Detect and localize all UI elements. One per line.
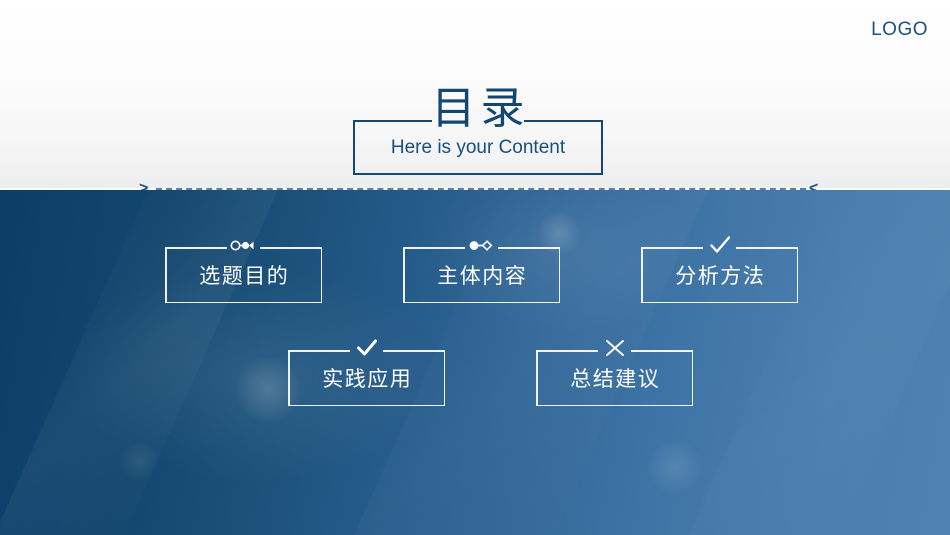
background-bokeh bbox=[648, 440, 702, 494]
title-plate: 目录 Here is your Content bbox=[353, 120, 603, 175]
menu-item-label: 实践应用 bbox=[288, 350, 445, 406]
title-frame-bottom-edge bbox=[353, 173, 603, 175]
menu-item-4[interactable]: 实践应用 bbox=[288, 350, 445, 406]
menu-item-label: 分析方法 bbox=[641, 247, 798, 303]
menu-item-5[interactable]: 总结建议 bbox=[536, 350, 693, 406]
menu-item-3[interactable]: 分析方法 bbox=[641, 247, 798, 303]
background-bokeh bbox=[120, 442, 158, 480]
menu-item-2[interactable]: 主体内容 bbox=[403, 247, 560, 303]
presentation-slide: LOGO 目录 Here is your Content > < bbox=[0, 0, 950, 535]
page-subtitle: Here is your Content bbox=[353, 136, 603, 160]
menu-item-label: 主体内容 bbox=[403, 247, 560, 303]
menu-item-label: 总结建议 bbox=[536, 350, 693, 406]
menu-item-label: 选题目的 bbox=[165, 247, 322, 303]
page-title: 目录 bbox=[353, 84, 603, 134]
slide-body-panel: 选题目的 主体内容 bbox=[0, 190, 950, 535]
menu-item-1[interactable]: 选题目的 bbox=[165, 247, 322, 303]
logo: LOGO bbox=[871, 19, 928, 41]
